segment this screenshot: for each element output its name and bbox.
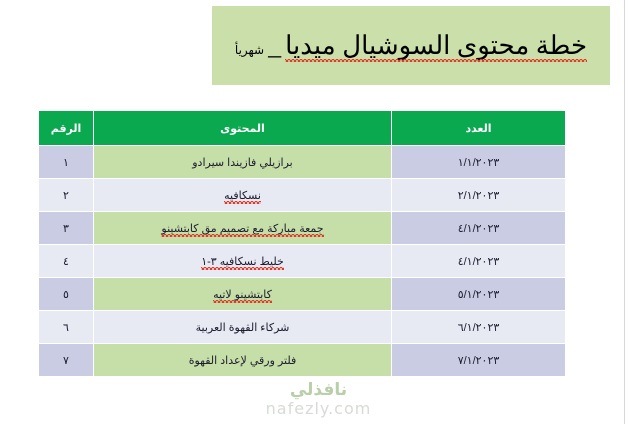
cell-content: برازيلي فازيندا سيرادو — [94, 146, 391, 178]
cell-count: ١/١/٢٠٢٣ — [392, 146, 565, 178]
table-row: ٧/١/٢٠٢٣فلتر ورقي لإعداد القهوة٧ — [39, 344, 565, 376]
page-title-separator: _ — [268, 31, 281, 61]
page-title-suffix: شهريأ — [235, 44, 264, 58]
table-body: ١/١/٢٠٢٣برازيلي فازيندا سيرادو١٢/١/٢٠٢٣ن… — [39, 146, 565, 376]
page-title-main: خطة محتوى السوشيال ميديا — [285, 31, 587, 61]
cell-number: ٢ — [39, 179, 93, 211]
cell-count: ٤/١/٢٠٢٣ — [392, 245, 565, 277]
content-plan-table: العدد المحتوى الرقم ١/١/٢٠٢٣برازيلي فازي… — [38, 110, 566, 377]
column-header-number: الرقم — [39, 111, 93, 145]
cell-content: جمعة مباركة مع تصميم مق كابتشينو — [94, 212, 391, 244]
watermark-arabic-text: نافذلي — [0, 382, 637, 400]
cell-number: ٦ — [39, 311, 93, 343]
cell-number: ٥ — [39, 278, 93, 310]
cell-content-text: شركاء القهوة العربية — [196, 321, 290, 334]
watermark: نافذلي nafezly.com — [0, 382, 637, 417]
cell-count: ٦/١/٢٠٢٣ — [392, 311, 565, 343]
table-row: ٤/١/٢٠٢٣جمعة مباركة مع تصميم مق كابتشينو… — [39, 212, 565, 244]
cell-count: ٥/١/٢٠٢٣ — [392, 278, 565, 310]
table-row: ٦/١/٢٠٢٣شركاء القهوة العربية٦ — [39, 311, 565, 343]
table-row: ٤/١/٢٠٢٣خليط نسكافيه ٣-١٤ — [39, 245, 565, 277]
table-row: ١/١/٢٠٢٣برازيلي فازيندا سيرادو١ — [39, 146, 565, 178]
cell-content: كابتشينو لاتيه — [94, 278, 391, 310]
title-banner: خطة محتوى السوشيال ميديا _ شهريأ — [212, 6, 610, 85]
cell-content: شركاء القهوة العربية — [94, 311, 391, 343]
cell-content: خليط نسكافيه ٣-١ — [94, 245, 391, 277]
cell-content-text: نسكافيه — [224, 189, 261, 202]
cell-number: ٧ — [39, 344, 93, 376]
column-header-count: العدد — [392, 111, 565, 145]
watermark-latin-text: nafezly.com — [0, 400, 637, 418]
cell-content-text: فلتر ورقي لإعداد القهوة — [189, 354, 297, 367]
cell-count: ٤/١/٢٠٢٣ — [392, 212, 565, 244]
cell-number: ٣ — [39, 212, 93, 244]
table-header-row: العدد المحتوى الرقم — [39, 111, 565, 145]
cell-count: ٢/١/٢٠٢٣ — [392, 179, 565, 211]
cell-number: ١ — [39, 146, 93, 178]
cell-number: ٤ — [39, 245, 93, 277]
table-row: ٢/١/٢٠٢٣نسكافيه٢ — [39, 179, 565, 211]
column-header-content: المحتوى — [94, 111, 391, 145]
cell-content-text: برازيلي فازيندا سيرادو — [192, 156, 293, 169]
cell-content-text: خليط نسكافيه ٣-١ — [201, 255, 284, 268]
cell-content-text: كابتشينو لاتيه — [213, 288, 272, 301]
page-title: خطة محتوى السوشيال ميديا _ شهريأ — [235, 31, 587, 61]
cell-content: فلتر ورقي لإعداد القهوة — [94, 344, 391, 376]
page-edge-divider — [624, 0, 625, 424]
cell-content: نسكافيه — [94, 179, 391, 211]
cell-count: ٧/١/٢٠٢٣ — [392, 344, 565, 376]
table-row: ٥/١/٢٠٢٣كابتشينو لاتيه٥ — [39, 278, 565, 310]
cell-content-text: جمعة مباركة مع تصميم مق كابتشينو — [161, 222, 323, 235]
